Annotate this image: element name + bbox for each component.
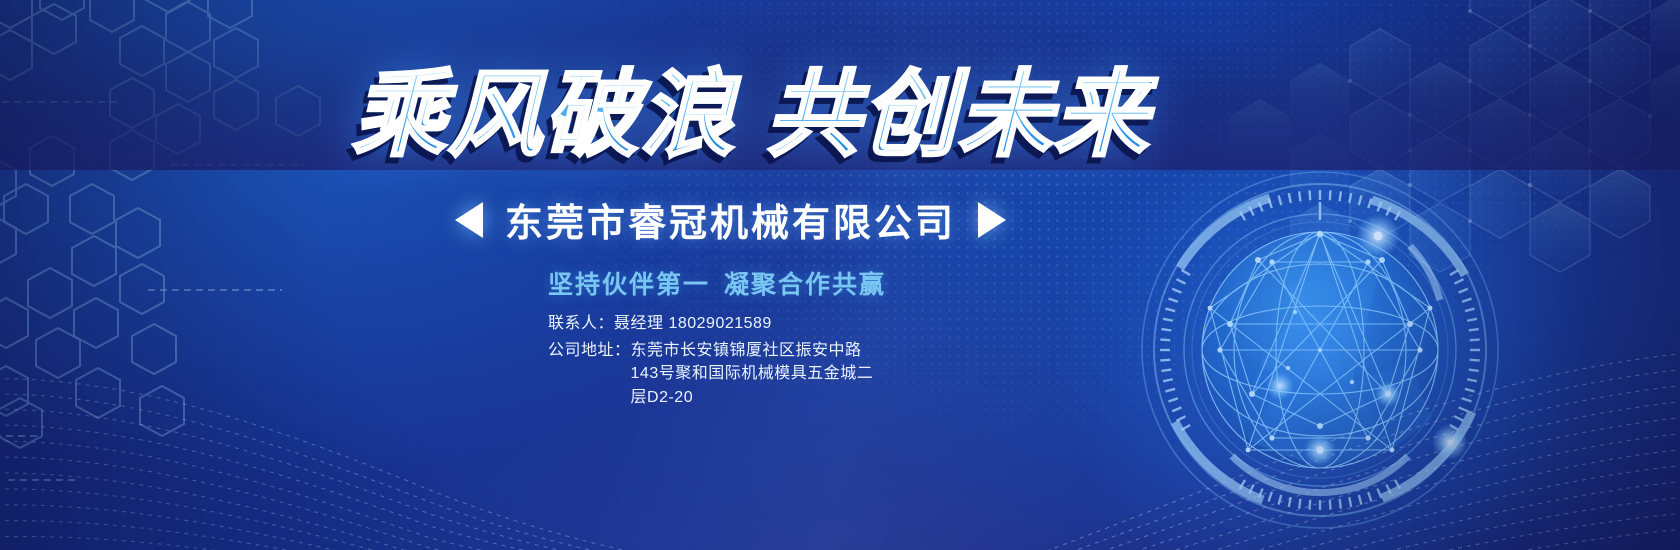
text-content-block: 乘风破浪共创未来 东莞市睿冠机械有限公司 坚持伙伴第一凝聚合作共赢 联系人：聂经… (0, 0, 1020, 550)
promotional-banner: 乘风破浪共创未来 东莞市睿冠机械有限公司 坚持伙伴第一凝聚合作共赢 联系人：聂经… (0, 0, 1680, 550)
triangle-left-icon (455, 202, 483, 238)
headline-part-1: 乘风破浪 (352, 62, 736, 167)
address-label: 公司地址： (548, 339, 631, 409)
company-name-row: 东莞市睿冠机械有限公司 (455, 192, 1006, 247)
triangle-right-icon (978, 202, 1006, 238)
wave-lines-right-icon (960, 340, 1680, 550)
contact-person-line: 联系人：聂经理 18029021589 (548, 312, 888, 335)
slogan-part-1: 坚持伙伴第一 (548, 271, 710, 299)
slogan-part-2: 凝聚合作共赢 (724, 271, 886, 299)
main-headline: 乘风破浪共创未来 (352, 68, 1150, 162)
contact-block: 联系人：聂经理 18029021589 公司地址： 东莞市长安镇锦厦社区振安中路… (548, 312, 888, 409)
slogan: 坚持伙伴第一凝聚合作共赢 (548, 265, 886, 301)
address-value: 东莞市长安镇锦厦社区振安中路143号聚和国际机械模具五金城二层D2-20 (631, 339, 888, 409)
company-name: 东莞市睿冠机械有限公司 (505, 192, 956, 247)
headline-part-2: 共创未来 (766, 62, 1150, 167)
contact-address-line: 公司地址： 东莞市长安镇锦厦社区振安中路143号聚和国际机械模具五金城二层D2-… (548, 339, 888, 409)
